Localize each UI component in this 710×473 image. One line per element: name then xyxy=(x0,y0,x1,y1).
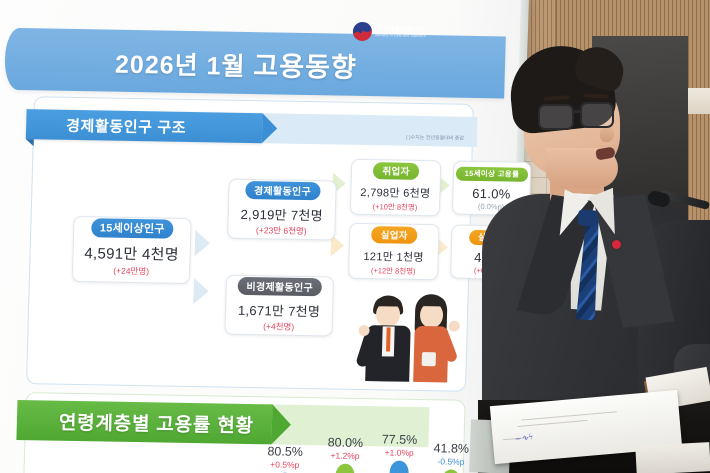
stat-box-not-economically-active: 비경제활동인구 1,671만 7천명 (+4천명) xyxy=(224,275,334,337)
stat-box-delta: (+23만 6천명) xyxy=(228,224,334,238)
ribbon-shadow xyxy=(262,113,478,147)
stat-box-delta: (+10만 8천명) xyxy=(351,201,439,214)
footnote-text: ( )수치는 전년동월대비 증감 xyxy=(406,134,464,142)
section2-ribbon: 연령계층별 고용률 현황 xyxy=(16,400,272,444)
section1-ribbon: 경제활동인구 구조 xyxy=(26,109,263,143)
stat-box-label: 경제활동인구 xyxy=(245,180,320,199)
glasses-icon xyxy=(580,102,614,128)
age-group-value: 80.0% xyxy=(314,435,376,450)
stat-box-delta: (+4천명) xyxy=(225,320,331,334)
glasses-bridge xyxy=(573,110,582,113)
presentation-poster: 2026년 1월 고용동향 국가데이터처 Ministry of Data an… xyxy=(0,0,523,473)
connector-arrow xyxy=(195,230,211,256)
stat-box-label: 15세이상인구 xyxy=(91,218,174,238)
taegeuk-icon xyxy=(352,22,372,41)
stat-box-value: 121만 1천명 xyxy=(349,248,437,266)
paper-bottom-right xyxy=(635,442,710,473)
connector-arrow xyxy=(193,278,209,304)
ribbon-tail xyxy=(26,139,34,146)
title-main: 고용동향 xyxy=(253,51,357,83)
stat-box-population: 15세이상인구 4,591만 4천명 (+24만명) xyxy=(72,216,192,284)
agency-logo: 국가데이터처 Ministry of Data and Statistics xyxy=(352,22,426,42)
necktie-knot xyxy=(577,209,598,226)
stat-box-employed: 취업자 2,798만 6천명 (+10만 8천명) xyxy=(350,159,442,217)
stat-box-delta: (+12만 8천명) xyxy=(349,265,437,278)
stat-box-label: 실업자 xyxy=(371,226,417,244)
section2-title: 연령계층별 고용률 현황 xyxy=(17,406,255,437)
lapel-pin-icon xyxy=(612,240,621,249)
age-group-delta: +1.2%p xyxy=(314,450,376,461)
age-group-bar-marker xyxy=(389,460,409,473)
people-illustration xyxy=(357,289,460,383)
stat-box-value: 4,591만 4천명 xyxy=(73,241,190,264)
screenshot-stage: 국가데이터처 2026년 1월 고용동향 국가데이터처 Ministry of … xyxy=(0,0,710,473)
stat-box-value: 1,671만 7천명 xyxy=(226,300,333,321)
handwritten-note: ~∿ϟ xyxy=(514,432,534,444)
age-group-column: 80.5% +0.5%p xyxy=(253,444,316,473)
poster-title-banner: 2026년 1월 고용동향 xyxy=(4,28,506,99)
age-group-delta: +0.5%p xyxy=(254,459,316,470)
title-prefix: 2026년 1월 xyxy=(115,50,254,80)
section1-title: 경제활동인구 구조 xyxy=(26,114,187,138)
age-group-bar-marker xyxy=(441,469,461,473)
age-group-bar-marker xyxy=(335,464,355,473)
section-economic-structure: 경제활동인구 구조 ( )수치는 전년동월대비 증감 15세이상인구 4,591… xyxy=(26,96,474,392)
stat-box-value: 2,798만 6천명 xyxy=(351,184,439,202)
stat-box-value: 2,919만 7천명 xyxy=(229,204,336,225)
stat-box-label: 비경제활동인구 xyxy=(237,276,322,295)
nose xyxy=(600,126,614,142)
age-group-value: 80.5% xyxy=(254,444,316,459)
stat-box-delta: (+24만명) xyxy=(73,263,189,277)
stat-box-label: 취업자 xyxy=(373,162,419,180)
agency-name-en: Ministry of Data and Statistics xyxy=(375,34,426,39)
glasses-icon xyxy=(538,104,574,130)
page-title: 2026년 1월 고용동향 xyxy=(115,41,358,84)
stat-box-economically-active: 경제활동인구 2,919만 7천명 (+23만 6천명) xyxy=(227,179,337,241)
stat-box-unemployed: 실업자 121만 1천명 (+12만 8천명) xyxy=(348,223,440,281)
